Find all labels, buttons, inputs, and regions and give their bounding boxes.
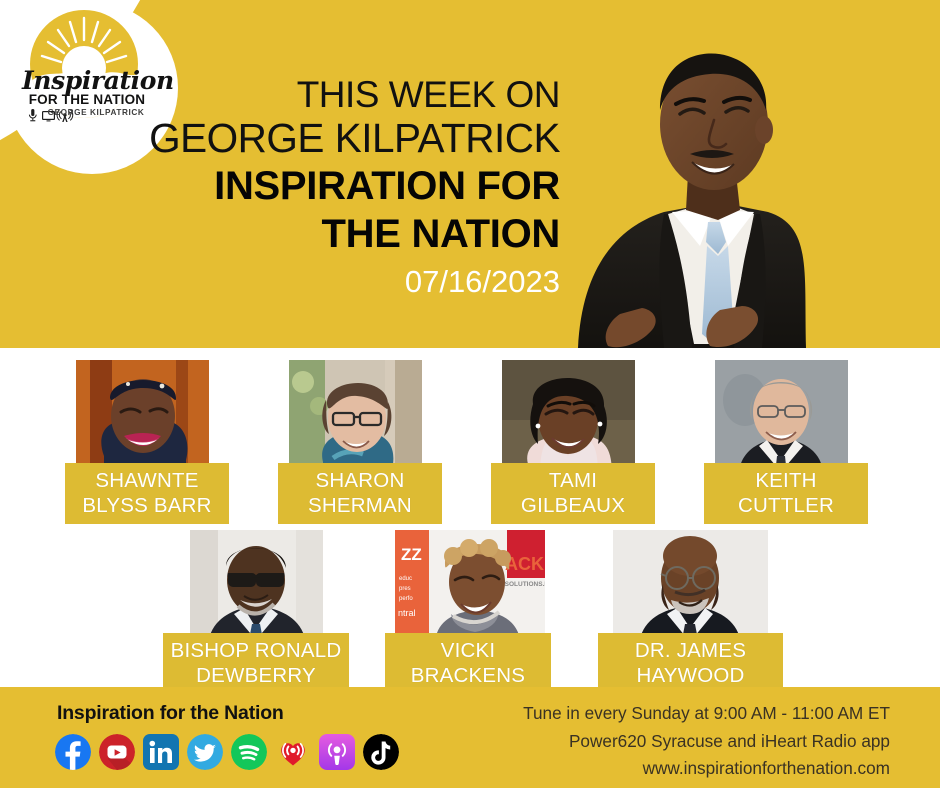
youtube-icon[interactable] xyxy=(99,734,135,770)
brand-logo: Inspiration FOR THE NATION xyxy=(22,8,152,128)
iheartradio-icon[interactable] xyxy=(275,734,311,770)
logo-host-name: GEORGE KILPATRICK xyxy=(40,109,152,117)
twitter-icon[interactable] xyxy=(187,734,223,770)
title-line-the-nation: THE NATION xyxy=(140,210,560,258)
broadcast-info: Tune in every Sunday at 9:00 AM - 11:00 … xyxy=(523,700,890,783)
title-line-george-kilpatrick: GEORGE KILPATRICK xyxy=(140,115,560,162)
title-block: THIS WEEK ON GEORGE KILPATRICK INSPIRATI… xyxy=(140,74,560,302)
guest-grid: SHAWNTE BLYSS BARR xyxy=(0,348,940,687)
microphone-icon xyxy=(29,109,36,121)
promo-poster: Inspiration FOR THE NATION xyxy=(0,0,940,788)
header-banner: Inspiration FOR THE NATION xyxy=(0,0,940,348)
guest-name-label: VICKI BRACKENS xyxy=(385,633,551,694)
social-links xyxy=(55,734,399,770)
host-portrait xyxy=(568,14,868,348)
svg-text:educ: educ xyxy=(399,576,412,582)
guest-name-label: TAMI GILBEAUX xyxy=(491,463,655,524)
guest-name-label: SHARON SHERMAN xyxy=(278,463,442,524)
episode-date: 07/16/2023 xyxy=(140,258,560,302)
svg-text:ZZ: ZZ xyxy=(401,545,422,564)
svg-text:ACKEN: ACKEN xyxy=(505,554,545,574)
svg-text:L SOLUTIONS.NET: L SOLUTIONS.NET xyxy=(499,581,545,588)
logo-subtitle: FOR THE NATION xyxy=(22,93,152,107)
spotify-icon[interactable] xyxy=(231,734,267,770)
tiktok-icon[interactable] xyxy=(363,734,399,770)
guest-photo xyxy=(715,360,848,475)
guest-name-label: SHAWNTE BLYSS BARR xyxy=(65,463,229,524)
title-line-this-week-on: THIS WEEK ON xyxy=(140,74,560,115)
guest-name-label: KEITH CUTTLER xyxy=(704,463,868,524)
footer-bar: Inspiration for the Nation xyxy=(0,687,940,788)
guest-name-label: BISHOP RONALD DEWBERRY xyxy=(163,633,349,694)
broadcast-station: Power620 Syracuse and iHeart Radio app xyxy=(523,728,890,756)
svg-text:pres: pres xyxy=(399,586,411,592)
apple-podcasts-icon[interactable] xyxy=(319,734,355,770)
broadcast-time: Tune in every Sunday at 9:00 AM - 11:00 … xyxy=(523,700,890,728)
guest-photo xyxy=(76,360,209,475)
svg-text:ntral: ntral xyxy=(398,608,416,618)
facebook-icon[interactable] xyxy=(55,734,91,770)
logo-script-text: Inspiration xyxy=(22,68,152,93)
guest-photo xyxy=(190,530,323,645)
title-line-inspiration-for: INSPIRATION FOR xyxy=(140,162,560,210)
guest-photo xyxy=(289,360,422,475)
guest-photo xyxy=(613,530,768,645)
svg-text:perfo: perfo xyxy=(399,596,413,602)
linkedin-icon[interactable] xyxy=(143,734,179,770)
footer-brand-name: Inspiration for the Nation xyxy=(57,702,284,725)
website-url[interactable]: www.inspirationforthenation.com xyxy=(523,755,890,783)
guest-photo xyxy=(502,360,635,475)
guest-photo: ZZ educ pres perfo ntral ACKEN L SOLUTIO… xyxy=(395,530,545,645)
